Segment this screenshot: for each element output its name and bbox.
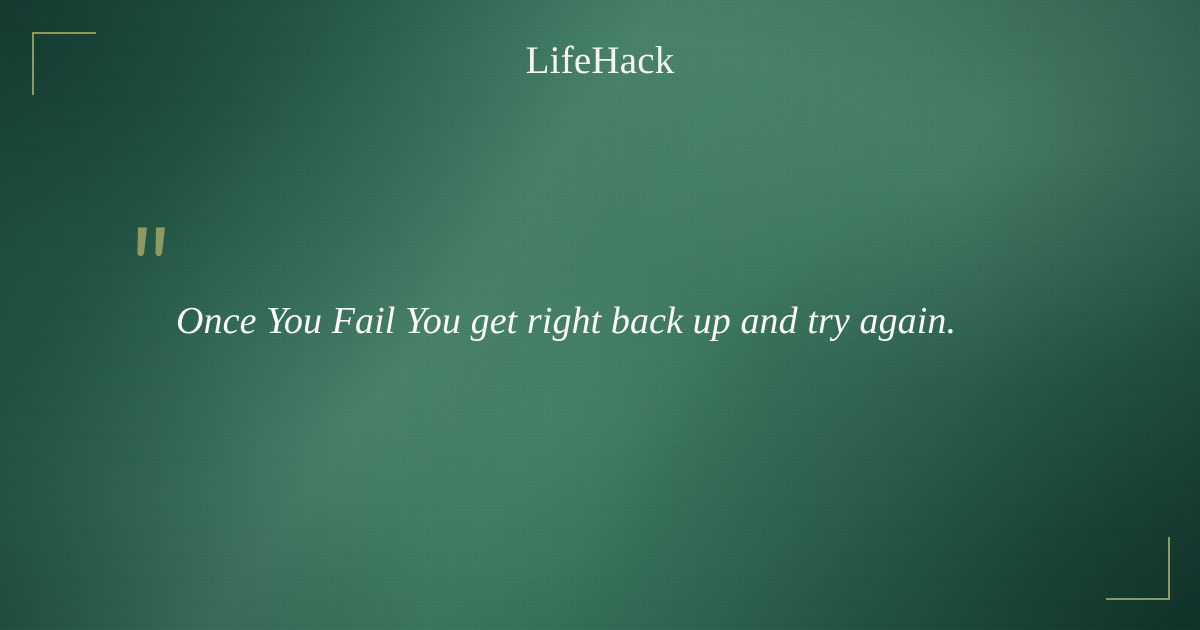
quotation-mark-icon [132,226,176,268]
corner-bracket-bottom-right-icon [1106,537,1170,600]
quote-card: LifeHack Once You Fail You get right bac… [0,0,1200,630]
quote-text: Once You Fail You get right back up and … [176,296,1076,346]
quotation-mark-glyph [132,226,176,268]
brand-wordmark: LifeHack [0,39,1200,83]
